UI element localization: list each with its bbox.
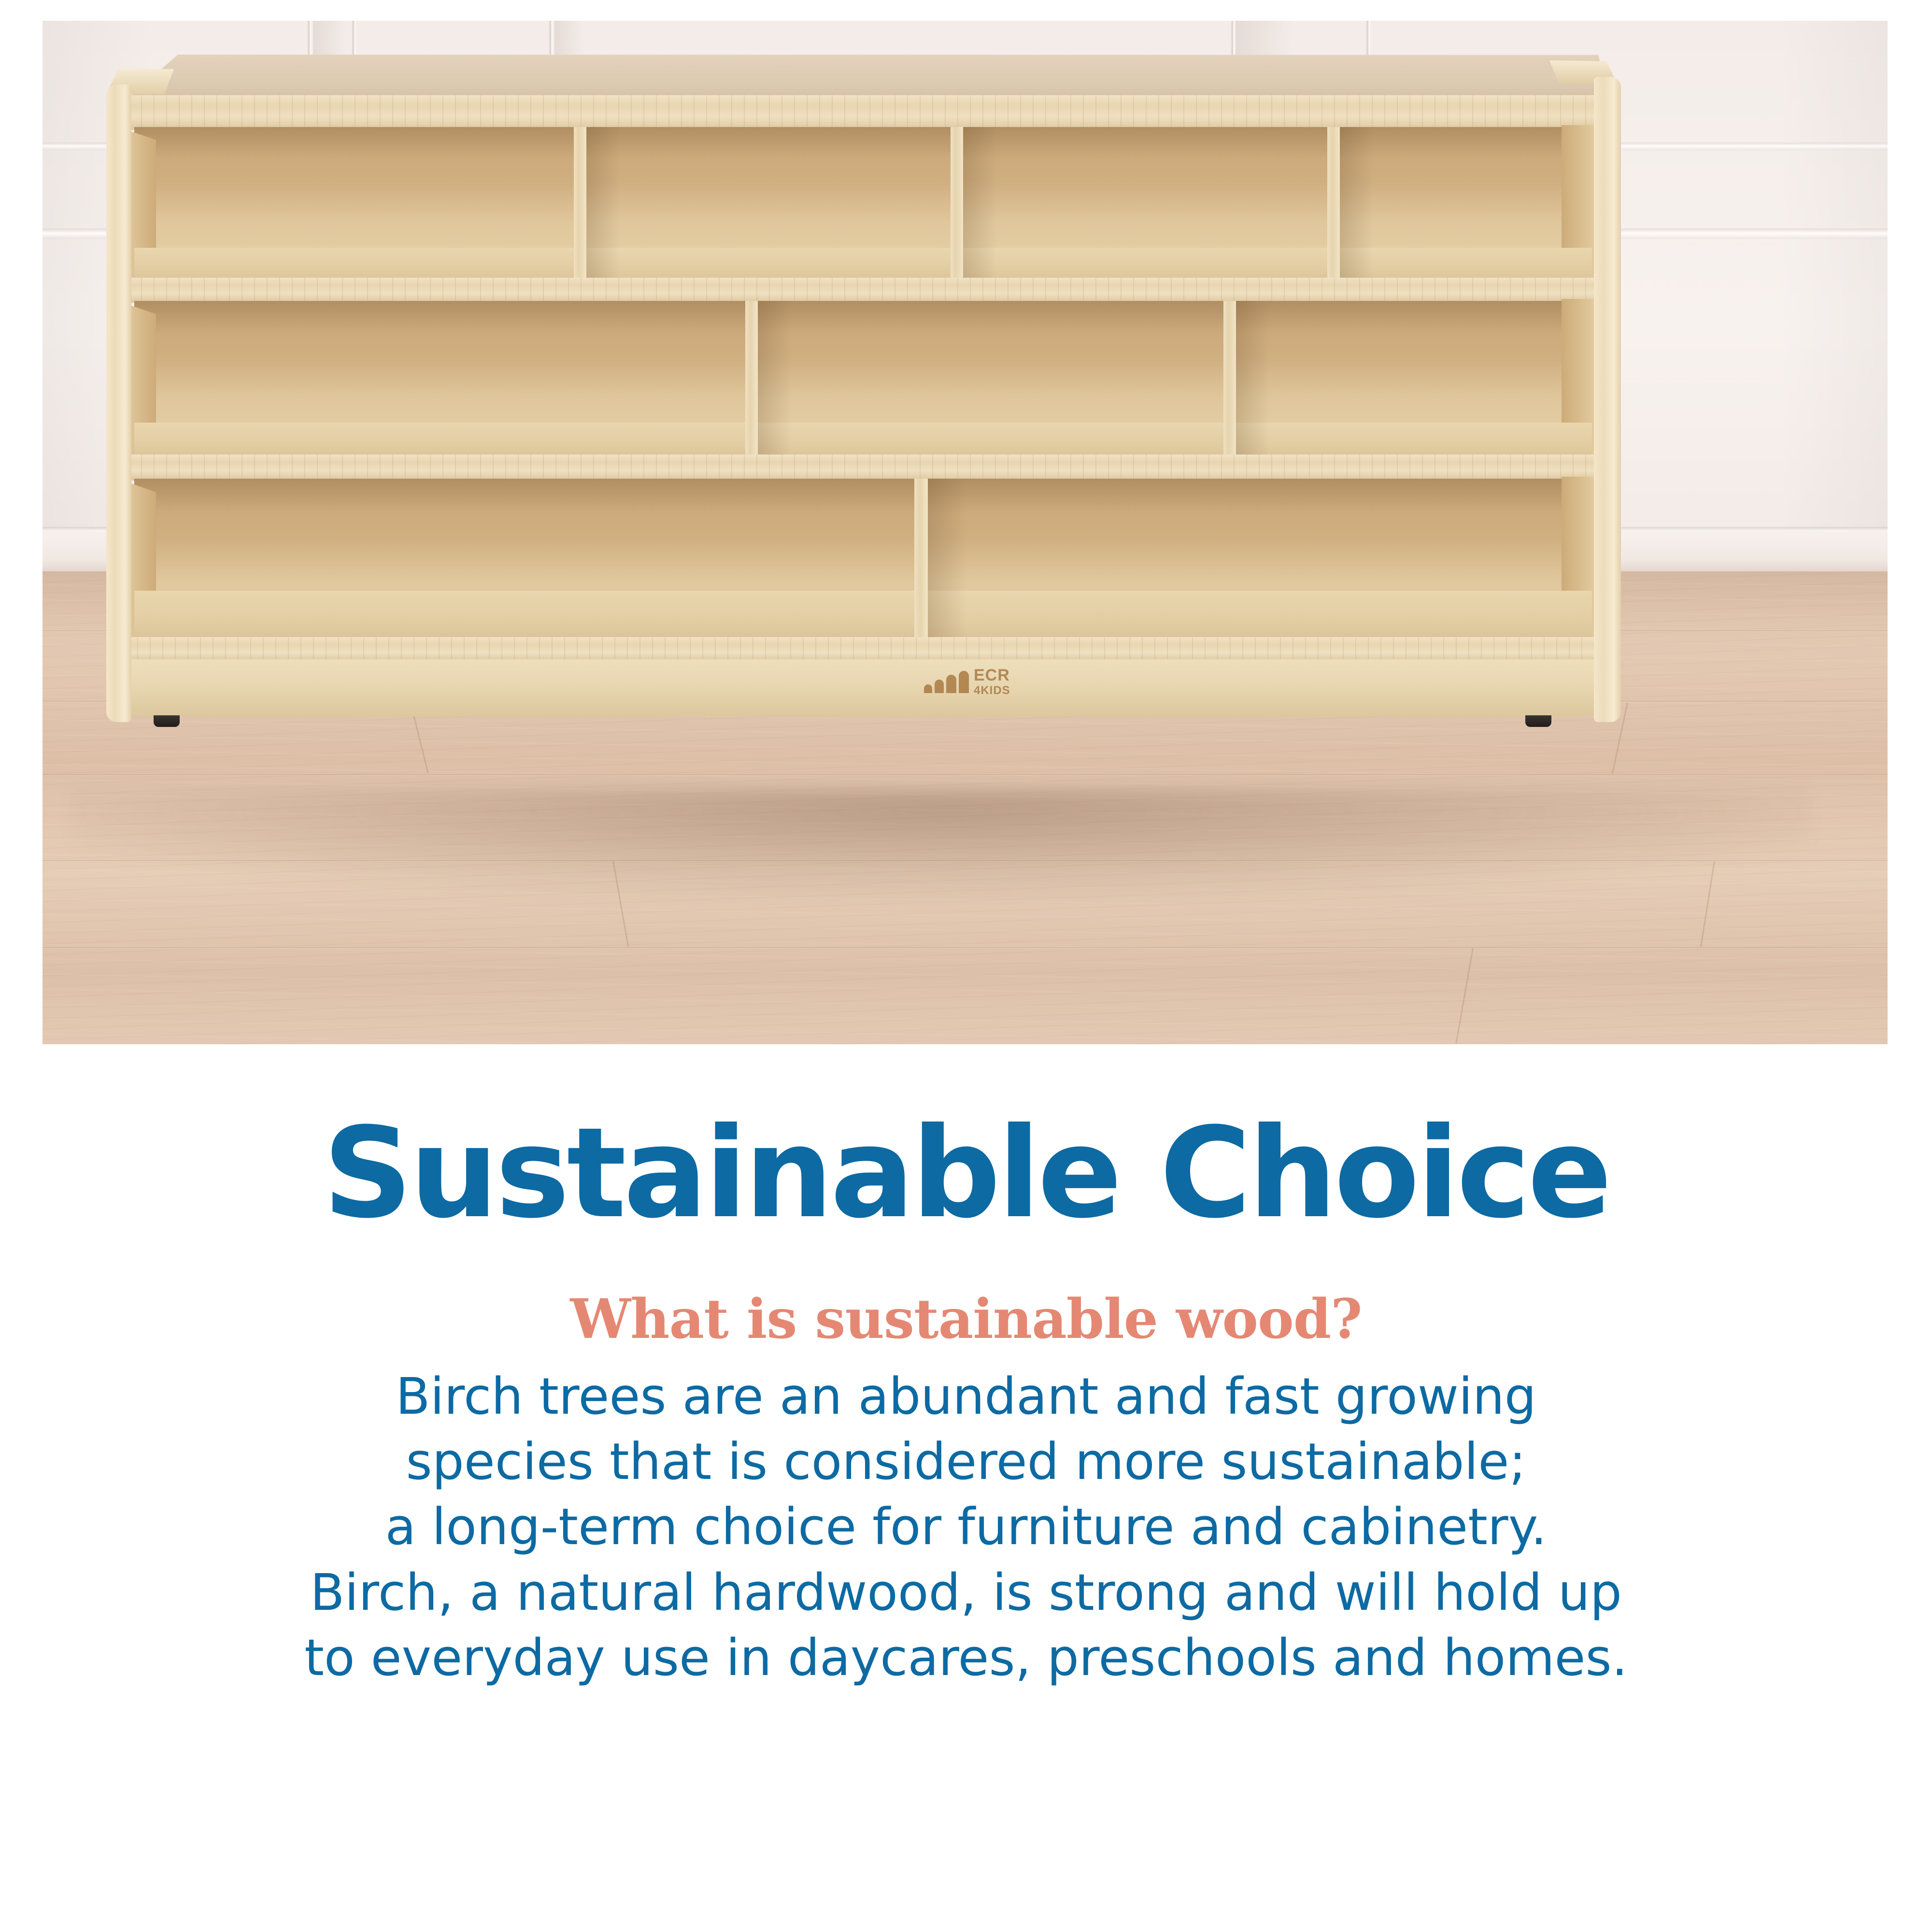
middle-row-divider-shadow-1 [758, 301, 792, 463]
body-line: species that is considered more sustaina… [0, 1429, 1932, 1494]
body-line: to everyday use in daycares, preschools … [0, 1625, 1932, 1690]
ecr4kids-logo: ECR 4KIDS [924, 667, 1010, 696]
marketing-copy-block: Sustainable Choice What is sustainable w… [0, 1063, 1932, 1690]
page-title: Sustainable Choice [0, 1111, 1932, 1236]
bottom-row-divider-shadow-1 [928, 479, 966, 647]
bottom-row-top-shadow [134, 479, 1592, 541]
bottom-row-deck [134, 591, 1592, 644]
body-line: a long-term choice for furniture and cab… [0, 1494, 1932, 1560]
right-side-post [1594, 77, 1621, 722]
birch-storage-shelf: ECR 4KIDS [71, 55, 1646, 852]
caster-right [1525, 715, 1551, 727]
top-row-divider-shadow-1 [586, 127, 620, 286]
middle-row-divider-1 [745, 301, 758, 463]
top-row-divider-3 [1327, 127, 1340, 286]
subheading-question: What is sustainable wood? [0, 1293, 1932, 1347]
logo-brand-line-1: ECR [974, 667, 1010, 683]
bottom-row-divider-1 [914, 479, 928, 647]
caster-left [154, 715, 180, 727]
top-row-divider-1 [574, 127, 586, 286]
body-paragraph: Birch trees are an abundant and fast gro… [0, 1364, 1932, 1690]
middle-row-divider-2 [1223, 301, 1236, 463]
ecr4kids-people-icon [924, 671, 969, 693]
shelf-1-front-edge [128, 278, 1597, 303]
shelf-2-front-edge [128, 455, 1597, 481]
base-rail-top-edge [125, 637, 1601, 662]
top-row-divider-shadow-3 [1340, 127, 1374, 286]
left-side-post [106, 85, 131, 722]
floor-plank-line [43, 947, 1888, 949]
middle-row-top-shadow [134, 301, 1592, 361]
shelf-top-front-edge [128, 95, 1597, 130]
body-line: Birch, a natural hardwood, is strong and… [0, 1560, 1932, 1625]
logo-brand-line-2: 4KIDS [974, 685, 1010, 696]
shelf-top-surface [125, 55, 1607, 101]
ecr4kids-wordmark: ECR 4KIDS [974, 667, 1010, 696]
middle-row-divider-shadow-2 [1236, 301, 1270, 463]
top-row-divider-2 [951, 127, 963, 286]
base-kick-panel [126, 659, 1600, 716]
top-row-divider-shadow-2 [963, 127, 997, 286]
product-photo: ECR 4KIDS [43, 21, 1888, 1044]
body-line: Birch trees are an abundant and fast gro… [0, 1364, 1932, 1429]
